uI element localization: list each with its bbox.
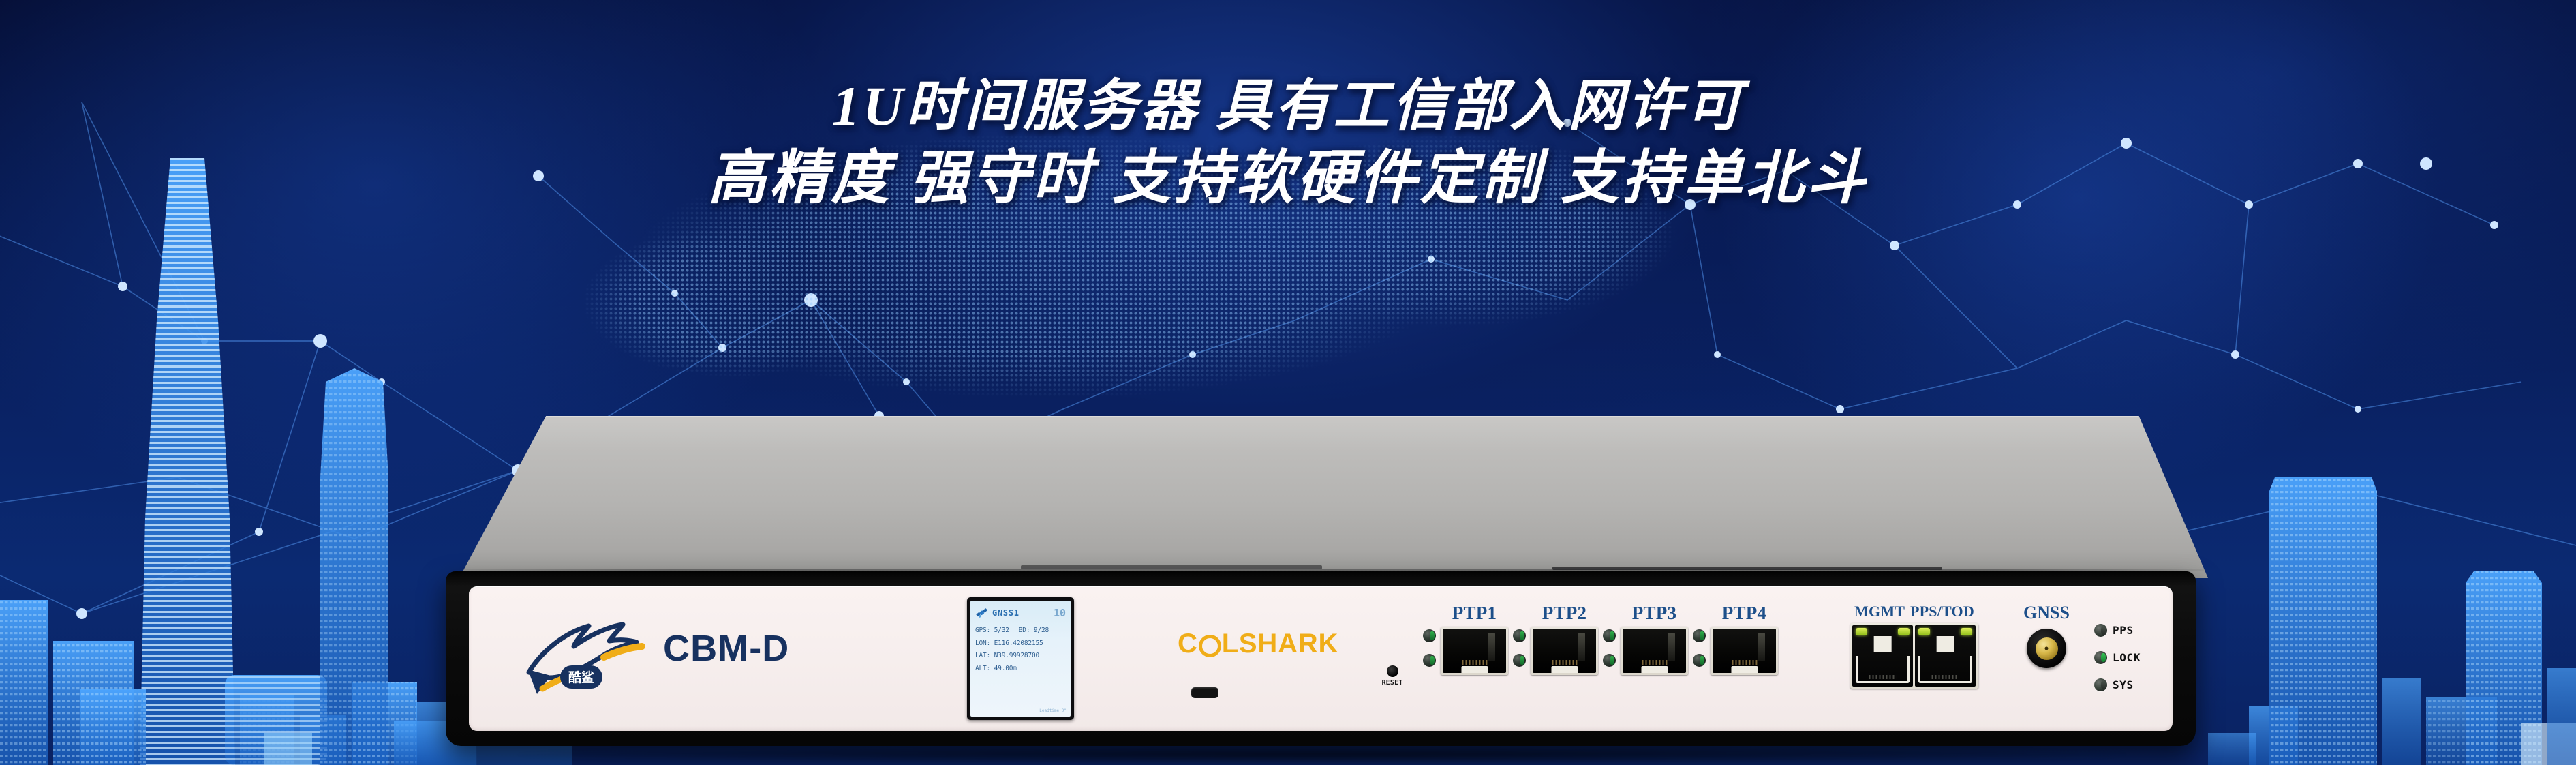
lcd-bd-value: 9/28 [1034,627,1049,634]
lcd-title: GNSS1 [992,608,1019,618]
mgmt-led-right [1898,628,1910,635]
rj45-jack-2[interactable] [1531,627,1598,675]
lcd-bd-label: BD: [1019,627,1030,634]
lock-led-icon [2094,651,2107,664]
ptp-port-unit-3: PTP3 [1598,603,1688,675]
satellite-icon [975,607,989,619]
ppstod-led-left [1918,628,1930,635]
ptp-led-pair-1 [1423,629,1436,667]
ptp-port-bank: PTP1 PTP2 [1418,603,1778,675]
ptp-led-pair-2 [1513,629,1526,667]
status-row-sys: SYS [2094,671,2141,698]
lcd-readout-rows: GPS: 5/32 BD: 9/28 LON: E116.42082155 LA… [975,625,1066,675]
ptp-port-2-label: PTP2 [1531,603,1598,624]
ptp-led-2a [1513,629,1526,642]
ptp-led-1a [1423,629,1436,642]
ptp-port-3-label: PTP3 [1621,603,1688,624]
lock-led-label: LOCK [2113,651,2141,664]
lcd-footer-note: Leadtime 0" [1039,708,1067,713]
reset-button[interactable]: RESET [1373,665,1411,687]
lcd-lon-label: LON: [975,640,990,647]
lid-vent-left [1021,565,1322,569]
rj45-jack-3[interactable] [1621,627,1688,675]
lcd-row-altitude: ALT: 49.00m [975,663,1066,676]
ppstod-port[interactable] [1915,625,1976,687]
lcd-alt-value: 49.00m [994,665,1017,672]
lid-vent-right [1552,567,1942,570]
device-model-label: CBM-D [663,627,789,670]
coolshark-suffix: LSHARK [1222,629,1338,659]
lcd-row-satellites: GPS: 5/32 BD: 9/28 [975,625,1066,637]
ptp-port-4[interactable]: PTP4 [1711,603,1778,675]
lcd-row-longitude: LON: E116.42082155 [975,637,1066,650]
mgmt-ppstod-bank: MGMT PPS/TOD [1850,603,1978,689]
pps-led-label: PPS [2113,624,2134,637]
time-server-device: 酷鲨 CBM-D [436,416,2208,765]
device-top-lid [436,416,2208,578]
status-row-pps: PPS [2094,616,2141,644]
usb-port[interactable] [1191,687,1218,698]
ptp-led-3a [1603,629,1616,642]
coolshark-wordmark: C LSHARK [1178,629,1338,659]
ptp-led-pair-4 [1693,629,1706,667]
ptp-led-3b [1603,654,1616,667]
ptp-led-pair-3 [1603,629,1616,667]
gnss-antenna-block: GNSS [2006,603,2087,668]
mgmt-ppstod-labels: MGMT PPS/TOD [1850,603,1978,620]
sys-led-icon [2094,678,2107,691]
rj45-jack-1[interactable] [1441,627,1508,675]
lcd-gps-value: 5/32 [994,627,1009,634]
lcd-header: GNSS1 10 [975,605,1066,621]
lcd-screen[interactable]: GNSS1 10 GPS: 5/32 BD: 9/28 LON: [970,601,1071,717]
ptp-led-2b [1513,654,1526,667]
lcd-alt-label: ALT: [975,665,990,672]
coolshark-prefix: C [1178,629,1198,659]
sma-connector-icon[interactable] [2027,629,2066,668]
banner-stage: 1U时间服务器 具有工信部入网许可 高精度 强守时 支持软硬件定制 支持单北斗 [0,0,2576,765]
sys-led-label: SYS [2113,678,2134,691]
lcd-signal-indicator: 10 [1054,607,1066,619]
shark-logo: 酷鲨 [502,607,658,709]
ptp-port-4-label: PTP4 [1711,603,1778,624]
pps-led-icon [2094,624,2107,637]
ptp-port-3[interactable]: PTP3 [1621,603,1688,675]
ppstod-led-right [1961,628,1972,635]
ptp-port-2[interactable]: PTP2 [1531,603,1598,675]
chassis-top-shadow [446,571,2196,586]
logo-badge-text: 酷鲨 [568,670,594,685]
mgmt-led-left [1856,628,1867,635]
ptp-port-unit-2: PTP2 [1508,603,1598,675]
lcd-lat-value: N39.99928700 [994,652,1039,659]
lcd-lat-label: LAT: [975,652,990,659]
lcd-lon-value: E116.42082155 [994,640,1043,647]
lcd-screen-frame: GNSS1 10 GPS: 5/32 BD: 9/28 LON: [967,597,1074,720]
gnss-label: GNSS [2006,603,2087,623]
ptp-port-unit-1: PTP1 [1418,603,1508,675]
status-row-lock: LOCK [2094,644,2141,671]
ppstod-port-label: PPS/TOD [1910,603,1974,620]
ptp-led-1b [1423,654,1436,667]
mgmt-port-label: MGMT [1854,603,1905,620]
ptp-port-1[interactable]: PTP1 [1441,603,1508,675]
reset-pinhole-icon[interactable] [1387,665,1398,677]
status-led-column: PPS LOCK SYS [2094,616,2141,698]
device-base-shadow [518,746,2126,764]
ptp-port-unit-4: PTP4 [1688,603,1778,675]
rj45-jack-4[interactable] [1711,627,1778,675]
device-faceplate: 酷鲨 CBM-D [469,586,2173,731]
lcd-gps-label: GPS: [975,627,990,634]
device-chassis: 酷鲨 CBM-D [446,571,2196,746]
ptp-led-4b [1693,654,1706,667]
ptp-led-4a [1693,629,1706,642]
lcd-row-latitude: LAT: N39.99928700 [975,650,1066,663]
mgmt-port[interactable] [1852,625,1913,687]
reset-label: RESET [1373,679,1411,687]
coolshark-o-glyph [1199,635,1221,657]
ptp-port-1-label: PTP1 [1441,603,1508,624]
